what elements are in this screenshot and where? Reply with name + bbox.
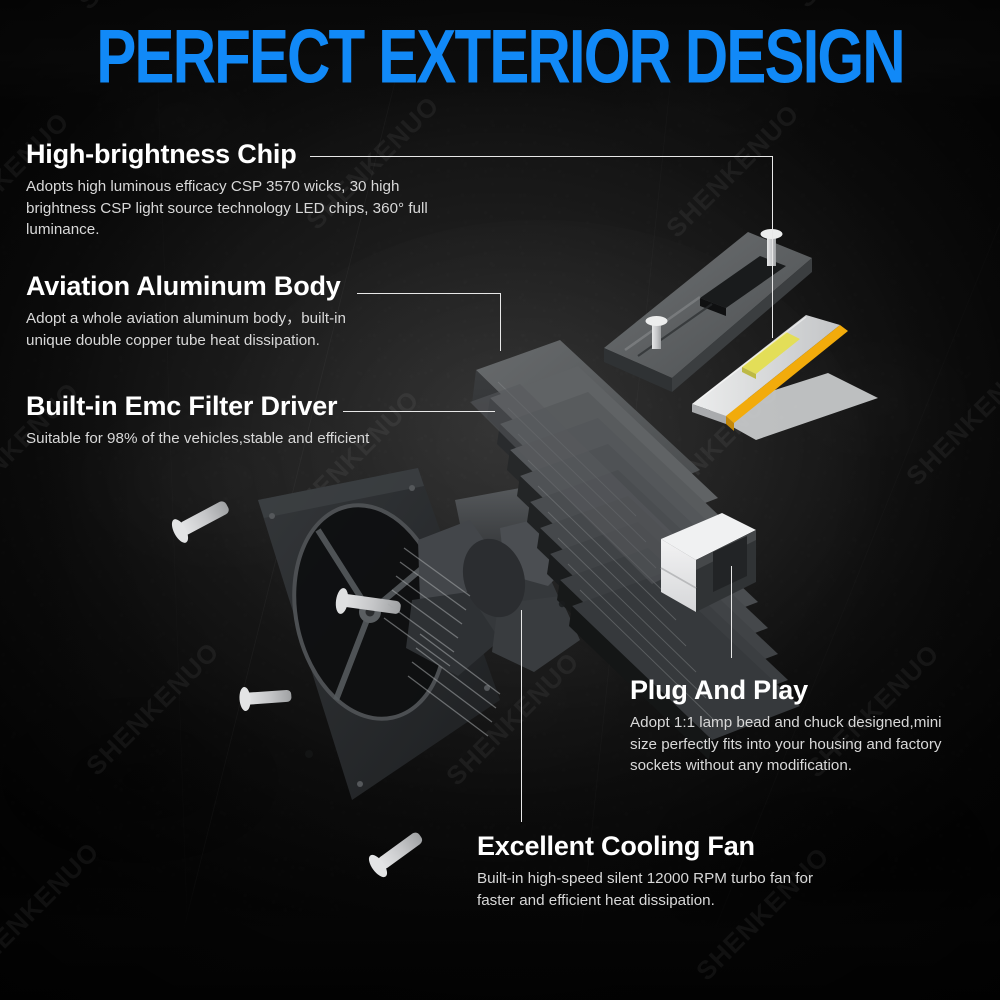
callout-plug-and-play: Plug And Play Adopt 1:1 lamp bead and ch…	[630, 676, 980, 777]
leader-line-plug-vertical	[731, 566, 732, 658]
infographic-canvas: SHENKENUO SHENKENUO SHENKENUO SHENKENUO …	[0, 0, 1000, 1000]
callout-excellent-cooling-fan: Excellent Cooling Fan Built-in high-spee…	[477, 832, 877, 911]
callout-heading: High-brightness Chip	[26, 140, 456, 169]
leader-line-fan-vertical	[521, 610, 522, 822]
callout-heading: Plug And Play	[630, 676, 980, 705]
callout-aviation-aluminum-body: Aviation Aluminum Body Adopt a whole avi…	[26, 272, 456, 351]
leader-line-body-vertical	[500, 293, 501, 351]
callout-body: Adopt 1:1 lamp bead and chuck designed,m…	[630, 712, 960, 777]
callout-body: Adopts high luminous efficacy CSP 3570 w…	[26, 176, 446, 241]
callout-heading: Excellent Cooling Fan	[477, 832, 877, 861]
callout-body: Suitable for 98% of the vehicles,stable …	[26, 428, 446, 450]
callout-heading: Aviation Aluminum Body	[26, 272, 456, 301]
leader-line-chip-vertical	[772, 156, 773, 338]
callout-heading: Built-in Emc Filter Driver	[26, 392, 456, 421]
callout-built-in-emc-filter-driver: Built-in Emc Filter Driver Suitable for …	[26, 392, 456, 450]
callout-body: Built-in high-speed silent 12000 RPM tur…	[477, 868, 817, 911]
page-title: PERFECT EXTERIOR DESIGN	[15, 14, 985, 101]
callout-body: Adopt a whole aviation aluminum body，bui…	[26, 308, 386, 351]
callout-high-brightness-chip: High-brightness Chip Adopts high luminou…	[26, 140, 456, 241]
